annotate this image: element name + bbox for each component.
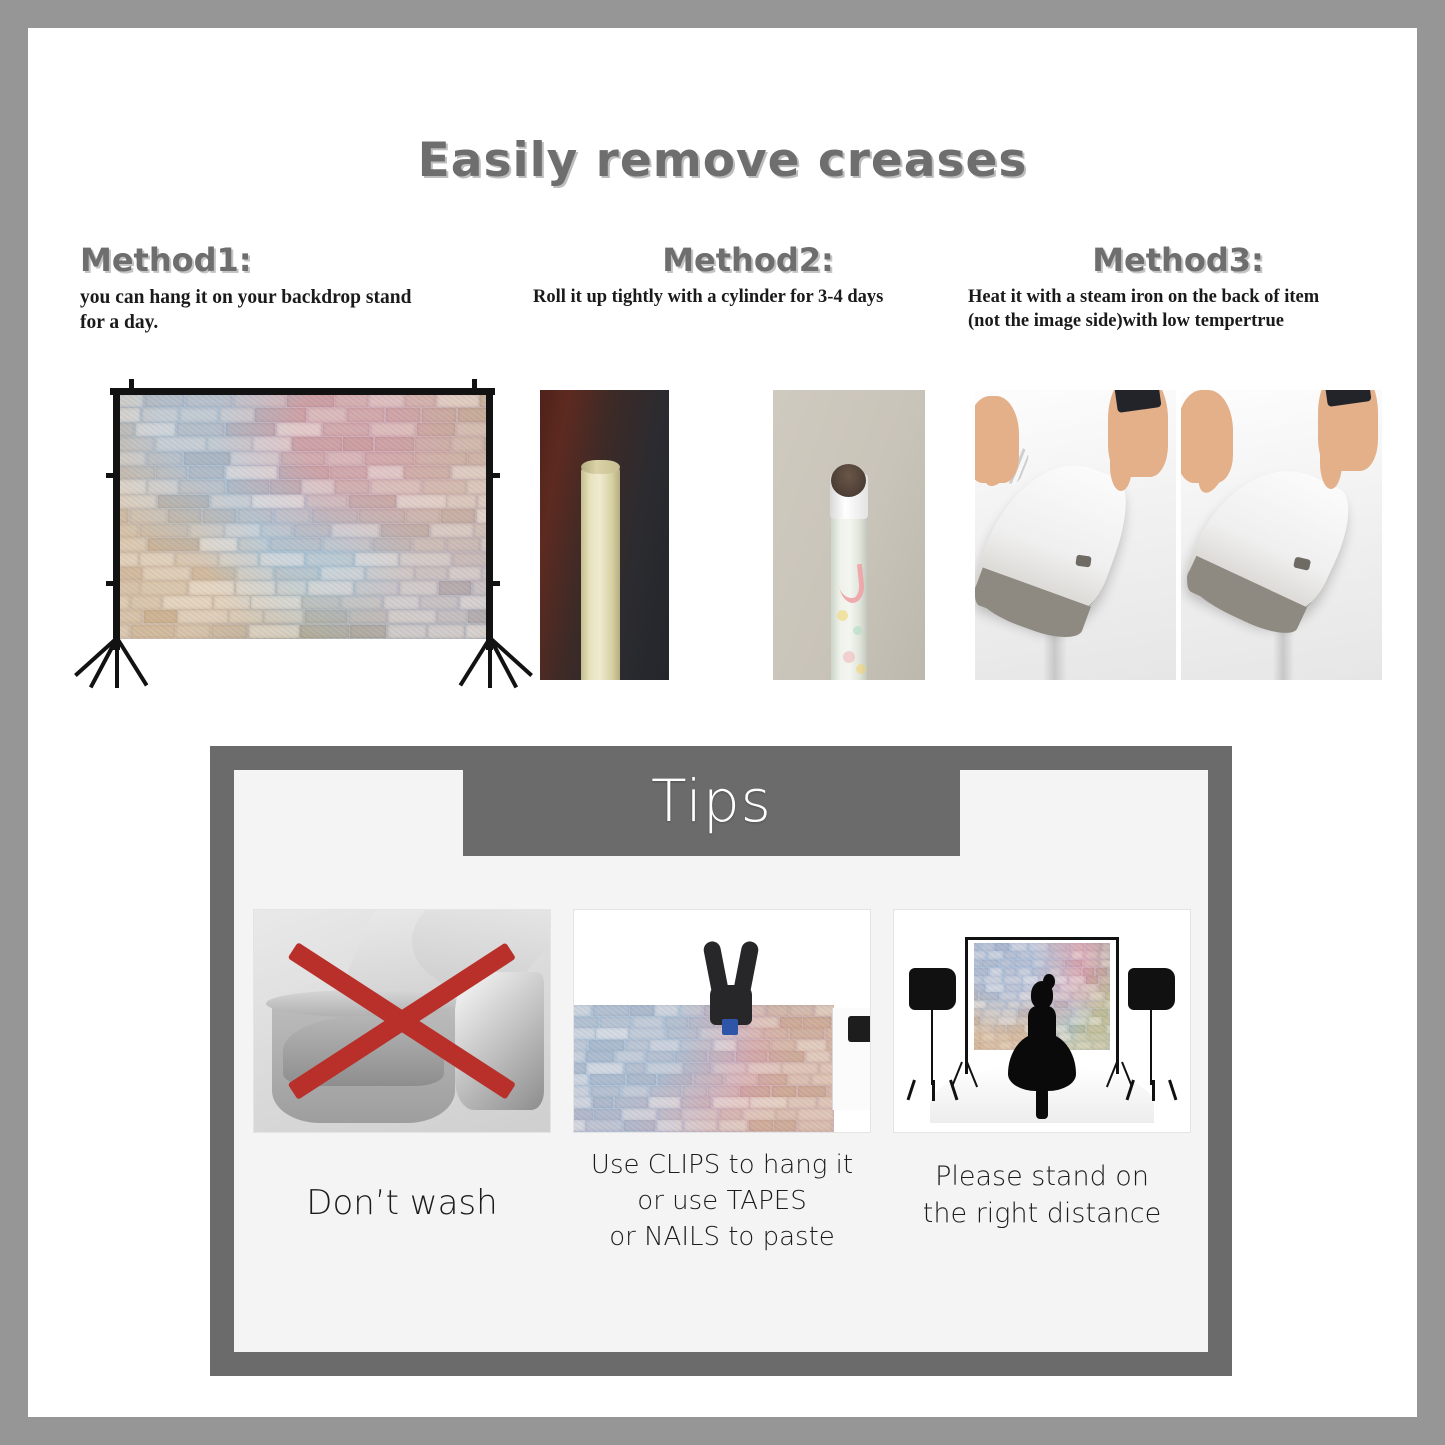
studio-stand-right-pole (1116, 937, 1119, 1075)
stand-right-clamp-lower (488, 581, 500, 586)
tip-caption-line: or use TAPES (574, 1184, 870, 1220)
tip-caption-line: the right distance (894, 1195, 1190, 1232)
tips-panel: Tips Don’t wash (210, 746, 1232, 1376)
stand-left-clamp-upper (106, 473, 118, 478)
rolled-cylinder-photo (540, 390, 669, 680)
studio-light-right (1128, 968, 1175, 1101)
tip-caption: Please stand on the right distance (894, 1158, 1190, 1233)
method-2-heading: Method2: (533, 243, 963, 278)
method-2-column: Method2: Roll it up tightly with a cylin… (533, 243, 963, 310)
paper-tube (831, 474, 867, 680)
pink-squiggle-mark (837, 563, 866, 603)
studio-stand-left-pole (965, 937, 968, 1075)
wash-basin (272, 999, 456, 1123)
girl-silhouette (1006, 981, 1077, 1119)
poster-page: Easily remove creases Method1: you can h… (28, 28, 1417, 1417)
methods-section: Method1: you can hang it on your backdro… (28, 243, 1417, 688)
stand-left-leg-d (115, 638, 119, 688)
method-3-body-line-2: (not the image side)with low tempertrue (968, 310, 1388, 334)
backdrop-stand-photo (80, 376, 535, 688)
method-3-heading: Method3: (968, 243, 1388, 278)
tip-caption-line: Please stand on (894, 1158, 1190, 1195)
pattern-cylinder-photo (773, 390, 925, 680)
spring-clamp-clip (704, 941, 762, 1037)
method-3-column: Method3: Heat it with a steam iron on th… (968, 243, 1388, 334)
steam-iron-photo-left (975, 390, 1176, 680)
tip-item: Don’t wash (254, 910, 550, 1227)
tip-caption-line: or NAILS to paste (574, 1220, 870, 1256)
stand-right-pole (486, 388, 493, 650)
tip-item: Please stand on the right distance (894, 910, 1190, 1233)
studio-light-left (909, 968, 956, 1101)
stand-left-pole (113, 388, 120, 650)
steam-iron-photo-right (1181, 390, 1382, 680)
method-1-column: Method1: you can hang it on your backdro… (80, 243, 530, 336)
stand-right-knob (472, 379, 477, 391)
stand-right-leg-c (459, 637, 492, 687)
method-3-body-line-1: Heat it with a steam iron on the back of… (968, 286, 1388, 310)
tip-caption: Use CLIPS to hang it or use TAPES or NAI… (574, 1148, 870, 1256)
hand-washing-crossed-out-photo (254, 910, 550, 1132)
stand-left-leg-c (115, 637, 148, 687)
stand-left-clamp-lower (106, 581, 118, 586)
tip-caption-line: Don’t wash (254, 1180, 550, 1227)
tip-caption-line: Use CLIPS to hang it (574, 1148, 870, 1184)
brick-backdrop-cloth (118, 394, 488, 639)
stand-left-knob (129, 379, 134, 391)
white-shelf-edge (832, 1008, 870, 1110)
studio-stand-top-bar (965, 937, 1119, 940)
tips-banner-label: Tips (651, 767, 772, 835)
method-1-heading: Method1: (80, 243, 530, 278)
stand-top-bar (110, 388, 495, 395)
method-2-body-line-1: Roll it up tightly with a cylinder for 3… (533, 286, 963, 310)
tip-item: Use CLIPS to hang it or use TAPES or NAI… (574, 910, 870, 1256)
tip-caption: Don’t wash (254, 1180, 550, 1227)
tips-grid: Don’t wash (254, 910, 1190, 1302)
stand-right-clamp-upper (488, 473, 500, 478)
page-title: Easily remove creases (28, 133, 1417, 188)
clip-holding-backdrop-photo (574, 910, 870, 1132)
method-1-body-line-1: you can hang it on your backdrop stand (80, 286, 530, 311)
stand-right-leg-b (489, 637, 533, 677)
stand-right-leg-d (488, 638, 492, 688)
method-1-body-line-2: for a day. (80, 311, 530, 336)
studio-setup-photo (894, 910, 1190, 1132)
tips-banner: Tips (463, 746, 960, 856)
rolled-backdrop-tube (581, 468, 620, 680)
